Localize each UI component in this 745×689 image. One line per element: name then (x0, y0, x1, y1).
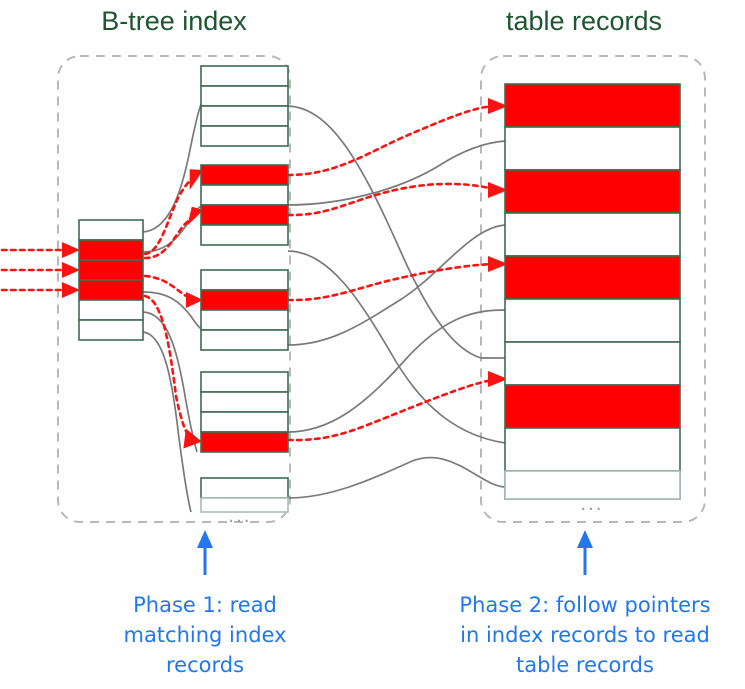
leaf3-cell-2[interactable] (201, 290, 288, 310)
phase1-caption-line1: Phase 1: read (133, 593, 277, 617)
table-row-2[interactable] (505, 127, 680, 170)
leaf4-cell-2[interactable] (201, 392, 288, 412)
phase1-callout: Phase 1: read matching index records (123, 530, 286, 677)
btree-leaf-node-3[interactable] (201, 270, 288, 350)
table-row-5[interactable] (505, 256, 680, 299)
leaf2-cell-2[interactable] (201, 185, 288, 205)
table-ellipsis: ... (580, 494, 603, 515)
phase1-arrow-head (197, 530, 213, 548)
phase2-path-1 (288, 106, 498, 175)
diagram-canvas: B-tree index table records (0, 0, 745, 689)
table-row-1[interactable] (505, 84, 680, 127)
phase2-path-3 (288, 264, 498, 300)
incoming-query-arrows (2, 242, 80, 298)
table-row-9[interactable] (505, 428, 680, 471)
root-to-leaf-pointers (143, 100, 203, 512)
incoming-arrow-2-head (62, 262, 80, 278)
leaf3-cell-4[interactable] (201, 330, 288, 350)
root-cell-4[interactable] (79, 280, 143, 300)
phase2-caption-line2: in index records to read (460, 623, 710, 647)
phase2-arrow-head (577, 530, 593, 548)
phase2-caption-line1: Phase 2: follow pointers (459, 593, 710, 617)
root-cell-6[interactable] (79, 320, 143, 340)
heading-table-records: table records (506, 6, 662, 36)
leaf3-cell-3[interactable] (201, 310, 288, 330)
btree-leaf-node-1[interactable] (201, 66, 288, 146)
root-cell-5[interactable] (79, 300, 143, 320)
leaf1-cell-3[interactable] (201, 106, 288, 126)
pointer-curve-2 (288, 141, 505, 205)
leaf4-cell-3[interactable] (201, 412, 288, 432)
phase2-traversal-paths (288, 98, 508, 440)
phase2-callout: Phase 2: follow pointers in index record… (459, 530, 710, 677)
root-cell-1[interactable] (79, 220, 143, 240)
leaf3-cell-1[interactable] (201, 270, 288, 290)
leaf2-cell-4[interactable] (201, 225, 288, 245)
table-row-3[interactable] (505, 170, 680, 213)
btree-lookup-diagram: B-tree index table records (0, 0, 745, 689)
phase1-caption-line2: matching index (123, 623, 286, 647)
table-row-7[interactable] (505, 342, 680, 385)
leaf5-cell-1[interactable] (201, 478, 288, 498)
btree-root-node[interactable] (79, 220, 143, 340)
index-ellipsis: ... (228, 506, 251, 527)
phase2-path-2 (288, 184, 498, 215)
leaf1-cell-2[interactable] (201, 86, 288, 106)
phase1-path-leaf4-row4 (145, 296, 192, 440)
pointer-curve-1 (288, 106, 505, 358)
phase1-caption-line3: records (166, 653, 244, 677)
incoming-arrow-1-head (62, 242, 80, 258)
table-records-node[interactable] (505, 84, 680, 499)
pointer-curve-6 (288, 458, 505, 498)
phase2-caption-line3: table records (516, 653, 654, 677)
table-row-4[interactable] (505, 213, 680, 256)
heading-btree-index: B-tree index (101, 6, 247, 36)
leaf1-cell-1[interactable] (201, 66, 288, 86)
btree-leaf-node-4[interactable] (201, 372, 288, 452)
root-cell-2[interactable] (79, 240, 143, 260)
table-row-8[interactable] (505, 385, 680, 428)
table-row-6[interactable] (505, 299, 680, 342)
leaf2-cell-3[interactable] (201, 205, 288, 225)
btree-leaf-node-2[interactable] (201, 165, 288, 245)
phase1-traversal-paths (145, 166, 207, 451)
phase1-path-leaf2-row1 (145, 178, 193, 254)
leaf2-cell-1[interactable] (201, 165, 288, 185)
leaf4-cell-4[interactable] (201, 432, 288, 452)
root-cell-3[interactable] (79, 260, 143, 280)
leaf1-cell-4[interactable] (201, 126, 288, 146)
incoming-arrow-3-head (62, 282, 80, 298)
leaf4-cell-1[interactable] (201, 372, 288, 392)
